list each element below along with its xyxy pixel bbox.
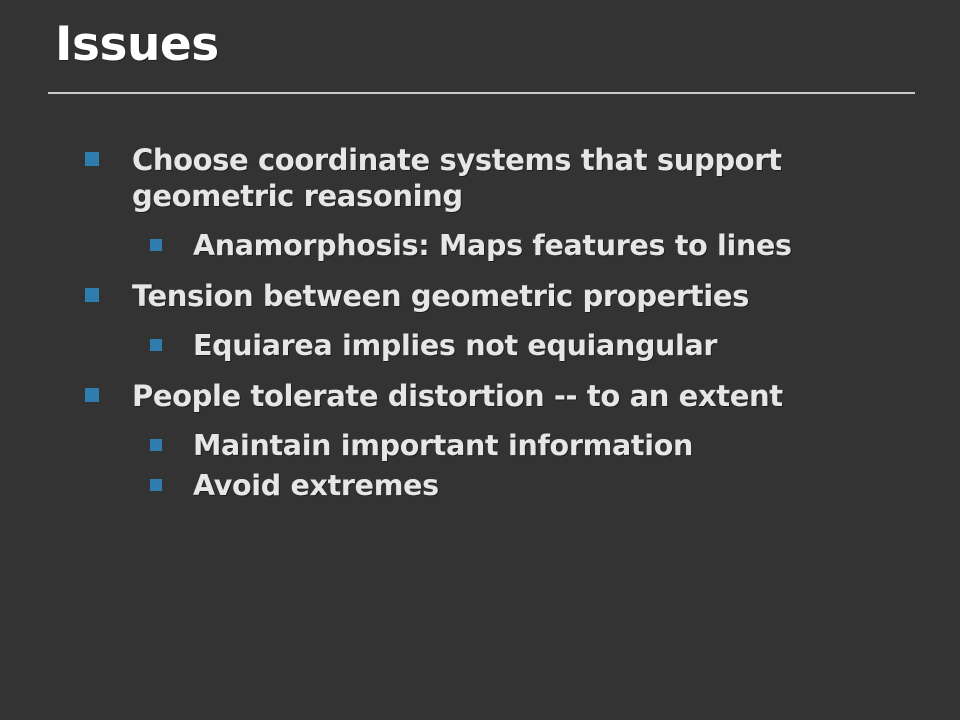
square-bullet-icon: [150, 339, 162, 351]
square-bullet-icon: [85, 152, 99, 166]
square-bullet-icon: [150, 439, 162, 451]
list-item: People tolerate distortion -- to an exte…: [0, 378, 960, 414]
square-bullet-icon: [85, 288, 99, 302]
list-item: Tension between geometric properties: [0, 278, 960, 314]
list-item-label: Choose coordinate systems that support g…: [132, 142, 822, 214]
title-divider: [48, 92, 915, 94]
list-item-label: Maintain important information: [193, 428, 843, 464]
list-item: Maintain important information: [0, 428, 960, 464]
list-item-label: Anamorphosis: Maps features to lines: [193, 228, 843, 264]
list-item-label: Avoid extremes: [193, 468, 843, 504]
list-item: Anamorphosis: Maps features to lines: [0, 228, 960, 264]
list-item: Equiarea implies not equiangular: [0, 328, 960, 364]
list-item-label: Tension between geometric properties: [132, 278, 822, 314]
square-bullet-icon: [150, 479, 162, 491]
presentation-slide: Issues Choose coordinate systems that su…: [0, 0, 960, 720]
list-item: Choose coordinate systems that support g…: [0, 142, 960, 214]
list-item-label: People tolerate distortion -- to an exte…: [132, 378, 822, 414]
list-item-label: Equiarea implies not equiangular: [193, 328, 843, 364]
square-bullet-icon: [150, 239, 162, 251]
bullet-list: Choose coordinate systems that support g…: [0, 142, 960, 508]
square-bullet-icon: [85, 388, 99, 402]
page-title: Issues: [55, 17, 219, 72]
list-item: Avoid extremes: [0, 468, 960, 504]
